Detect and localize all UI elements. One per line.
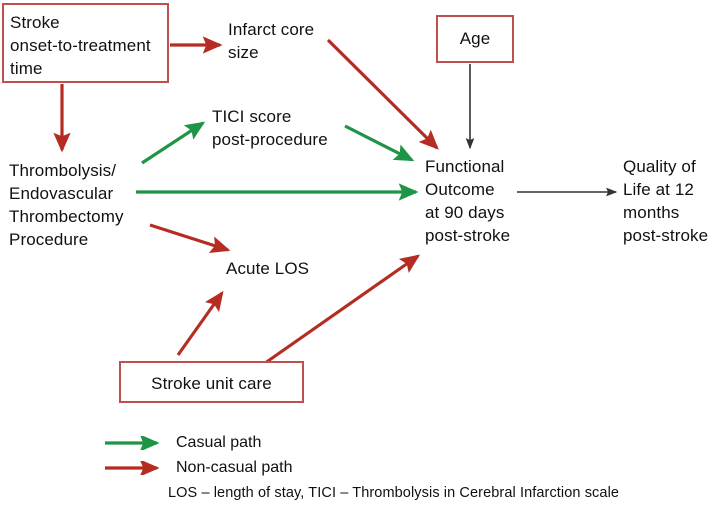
edge-stroke-unit-care-to-acute-los: [178, 293, 222, 355]
node-stroke-unit-care[interactable]: Stroke unit care: [119, 361, 304, 403]
legend-non-casual-arrow-icon: [104, 461, 166, 475]
node-age[interactable]: Age: [436, 15, 514, 63]
node-functional-outcome-at-90-days-post-stroke[interactable]: Functional Outcome at 90 days post-strok…: [425, 155, 575, 247]
legend-label-casual-path: Casual path: [176, 434, 261, 452]
node-infarct-core-size[interactable]: Infarct core size: [228, 18, 358, 64]
legend-casual-arrow-icon: [104, 436, 166, 450]
node-quality-of-life-at-12-months-post-stroke[interactable]: Quality of Life at 12 months post-stroke: [623, 155, 723, 247]
node-tici-score-post-procedure[interactable]: TICI score post-procedure: [212, 105, 362, 151]
node-stroke-onset-to-treatment-time[interactable]: Stroke onset-to-treatment time: [2, 3, 169, 83]
legend-label-non-casual-path: Non-casual path: [176, 459, 293, 477]
edge-procedure-to-acute-los: [150, 225, 228, 250]
diagram-canvas: Stroke onset-to-treatment time Infarct c…: [0, 0, 725, 522]
legend-item-casual-path: Casual path: [104, 430, 293, 455]
edge-procedure-to-tici: [142, 123, 203, 163]
node-acute-los[interactable]: Acute LOS: [226, 257, 336, 280]
legend: Casual path Non-casual path: [104, 430, 293, 480]
footnote-abbreviations: LOS – length of stay, TICI – Thrombolysi…: [168, 485, 619, 501]
node-thrombolysis-endovascular-thrombectomy-procedure[interactable]: Thrombolysis/ Endovascular Thrombectomy …: [9, 159, 149, 251]
legend-item-non-casual-path: Non-casual path: [104, 455, 293, 480]
